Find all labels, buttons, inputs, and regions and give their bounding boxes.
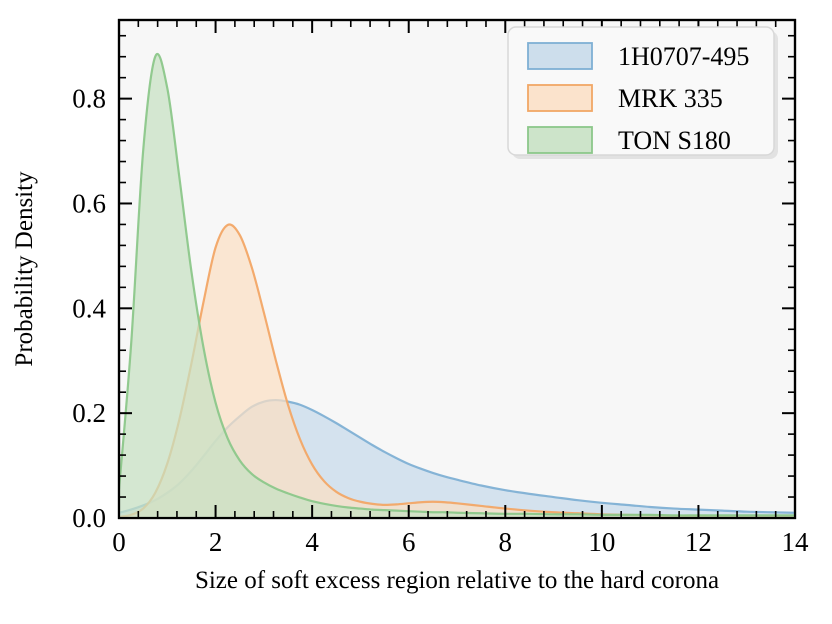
x-tick-label: 4	[305, 527, 319, 557]
legend-entries[interactable]: 1H0707-495MRK 335TON S180	[528, 42, 749, 155]
y-axis-tick-labels: 0.00.20.40.60.8	[72, 84, 106, 533]
legend-label-3: TON S180	[618, 126, 731, 155]
x-axis-title: Size of soft excess region relative to t…	[195, 567, 719, 594]
kde-plot-svg: 02468101214 0.00.20.40.60.8 Size of soft…	[0, 0, 832, 624]
x-tick-label: 8	[499, 527, 513, 557]
y-tick-label: 0.2	[72, 398, 106, 428]
x-axis-tick-labels: 02468101214	[112, 527, 809, 557]
x-tick-label: 6	[402, 527, 416, 557]
x-tick-label: 2	[209, 527, 223, 557]
x-tick-label: 0	[112, 527, 126, 557]
legend-swatch-3	[528, 127, 592, 153]
legend-label-1: 1H0707-495	[618, 42, 749, 71]
y-tick-label: 0.4	[72, 293, 106, 323]
legend-label-2: MRK 335	[618, 84, 723, 113]
y-tick-label: 0.8	[72, 84, 106, 114]
y-tick-label: 0.0	[72, 503, 106, 533]
legend[interactable]: 1H0707-495MRK 335TON S180	[508, 27, 778, 159]
y-tick-label: 0.6	[72, 188, 106, 218]
figure-canvas: 02468101214 0.00.20.40.60.8 Size of soft…	[0, 0, 832, 624]
x-tick-label: 14	[782, 527, 810, 557]
legend-swatch-2	[528, 85, 592, 111]
y-axis-title: Probability Density	[11, 171, 38, 367]
x-tick-label: 10	[588, 527, 615, 557]
legend-swatch-1	[528, 43, 592, 69]
x-tick-label: 12	[685, 527, 712, 557]
